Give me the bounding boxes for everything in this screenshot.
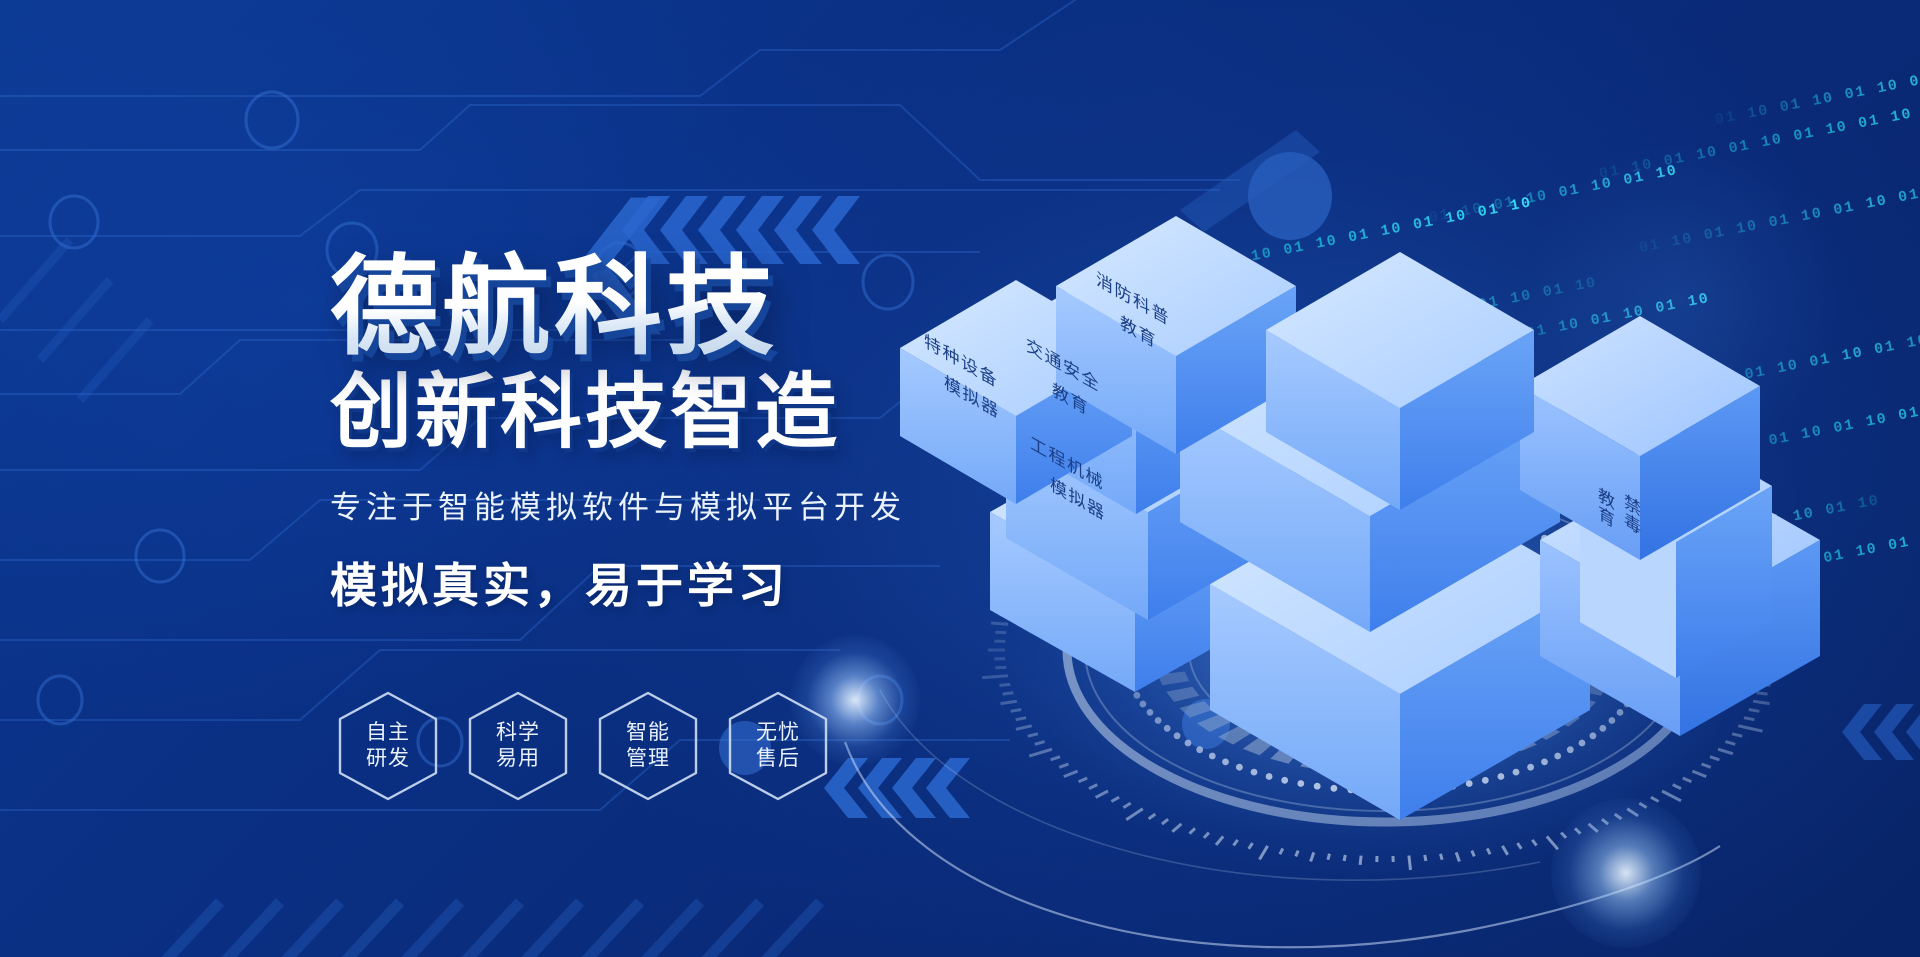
badge-line-2: 售后 — [756, 746, 800, 772]
hero-claim: 模拟真实，易于学习 — [330, 547, 1090, 616]
feature-badge-smart-management[interactable]: 智能 管理 — [596, 690, 700, 802]
badge-line-1: 无忧 — [756, 720, 800, 746]
badge-line-1: 科学 — [496, 720, 540, 746]
brand-title: 德航科技 — [330, 250, 1090, 363]
badge-line-1: 自主 — [366, 720, 410, 746]
hero-subline: 专注于智能模拟软件与模拟平台开发 — [330, 482, 1090, 527]
hero-copy-block: 德航科技 创新科技智造 专注于智能模拟软件与模拟平台开发 模拟真实，易于学习 — [330, 250, 1090, 616]
hero-headline: 创新科技智造 — [330, 369, 1090, 458]
badge-line-2: 研发 — [366, 746, 410, 772]
feature-badge-worry-free-support[interactable]: 无忧 售后 — [726, 690, 830, 802]
hero-banner: 01 10 01 10 01 10 01 10 01 10 01 10 01 1… — [0, 0, 1920, 957]
badge-line-1: 智能 — [626, 720, 670, 746]
feature-badge-independent-rnd[interactable]: 自主 研发 — [336, 690, 440, 802]
feature-badge-row: 自主 研发 科学 易用 智能 管理 — [336, 690, 830, 802]
feature-badge-scientific-easy[interactable]: 科学 易用 — [466, 690, 570, 802]
badge-line-2: 易用 — [496, 746, 540, 772]
binary-row: 01 10 01 10 01 10 01 10 — [1714, 64, 1920, 129]
binary-row: 01 10 01 10 01 10 01 10 01 10 01 10 01 1… — [1598, 80, 1920, 183]
badge-line-2: 管理 — [626, 746, 670, 772]
